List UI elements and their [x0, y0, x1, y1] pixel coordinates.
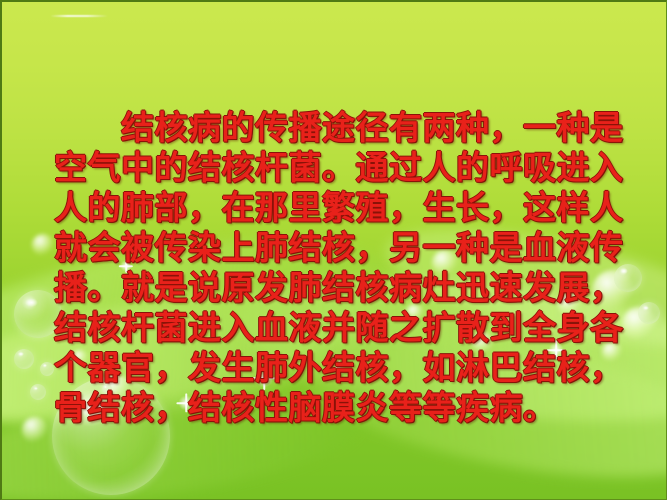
slide-body-text: 结核病的传播途径有两种，一种是 空气中的结核杆菌。通过人的呼吸进入 人的肺部，在… — [54, 108, 629, 428]
light-streak — [50, 15, 108, 17]
body-line: 骨结核，结核性脑膜炎等等疾病。 — [54, 388, 629, 428]
body-line: 就会被传染上肺结核，另一种是血液传 — [54, 228, 629, 268]
body-line: 人的肺部，在那里繁殖，生长，这样人 — [54, 188, 629, 228]
body-line: 播。就是说原发肺结核病灶迅速发展， — [54, 268, 629, 308]
body-line: 个器官，发生肺外结核，如淋巴结核， — [54, 348, 629, 388]
bubble-small-left-b — [40, 362, 54, 376]
body-line: 结核病的传播途径有两种，一种是 — [54, 108, 629, 148]
presentation-slide: 结核病的传播途径有两种，一种是 空气中的结核杆菌。通过人的呼吸进入 人的肺部，在… — [0, 0, 667, 500]
bubble-small-left-a — [14, 349, 34, 369]
body-line: 空气中的结核杆菌。通过人的呼吸进入 — [54, 148, 629, 188]
bubble-right-lower — [638, 302, 660, 324]
body-line: 结核杆菌进入血液并随之扩散到全身各 — [54, 308, 629, 348]
glow-bottomleft — [22, 417, 48, 443]
glow-left-a — [32, 234, 54, 256]
bubble-small-left-c — [30, 384, 46, 400]
